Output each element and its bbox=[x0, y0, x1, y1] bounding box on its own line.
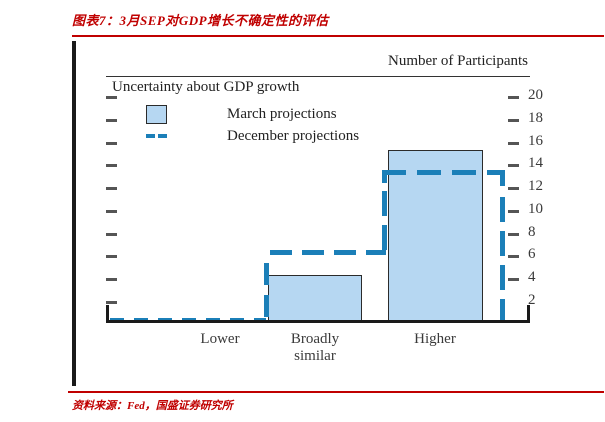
legend-label-march: March projections bbox=[227, 106, 337, 123]
title-divider bbox=[72, 35, 604, 37]
dec-step-higher bbox=[382, 170, 406, 175]
right-tick-20 bbox=[508, 96, 519, 99]
y-axis-left-stub bbox=[106, 305, 109, 323]
dec-step-higher bbox=[417, 170, 441, 175]
dec-step-broadly bbox=[366, 250, 386, 255]
ytick-label-14: 14 bbox=[528, 155, 543, 172]
figure-panel: Number of Participants Uncertainty about… bbox=[72, 41, 532, 386]
right-tick-4 bbox=[508, 278, 519, 281]
category-label-broadly-line2: similar bbox=[267, 348, 363, 365]
ytick-label-10: 10 bbox=[528, 201, 543, 218]
left-tick-6 bbox=[106, 255, 117, 258]
bar-march-higher bbox=[388, 150, 483, 321]
y-axis-right-stub bbox=[527, 305, 530, 323]
left-tick-12 bbox=[106, 187, 117, 190]
december-dash-icon bbox=[146, 127, 167, 146]
ytick-label-18: 18 bbox=[528, 110, 543, 127]
dec-closer-right bbox=[500, 265, 505, 290]
ytick-label-20: 20 bbox=[528, 87, 543, 104]
left-tick-18 bbox=[106, 119, 117, 122]
dec-step-broadly bbox=[302, 250, 324, 255]
category-label-broadly-line1: Broadly bbox=[267, 331, 363, 348]
chart-subtitle: Uncertainty about GDP growth bbox=[112, 79, 299, 96]
ytick-label-6: 6 bbox=[528, 246, 536, 263]
category-label-higher-line1: Higher bbox=[387, 331, 483, 348]
dec-riser-higher bbox=[382, 225, 387, 250]
ytick-label-8: 8 bbox=[528, 224, 536, 241]
dec-step-broadly bbox=[334, 250, 356, 255]
category-label-broadly-similar: Broadly similar bbox=[267, 331, 363, 365]
report-title: 图表7：3月SEP对GDP增长不确定性的评估 bbox=[72, 10, 329, 29]
dec-riser-higher bbox=[382, 191, 387, 216]
right-tick-16 bbox=[508, 142, 519, 145]
dec-riser-broadly bbox=[264, 295, 269, 317]
right-tick-10 bbox=[508, 210, 519, 213]
bar-march-broadly-similar bbox=[268, 275, 362, 321]
left-tick-2 bbox=[106, 301, 117, 304]
right-tick-12 bbox=[508, 187, 519, 190]
left-tick-16 bbox=[106, 142, 117, 145]
right-tick-8 bbox=[508, 233, 519, 236]
legend-label-december: December projections bbox=[227, 128, 359, 145]
category-label-lower-line1: Lower bbox=[172, 331, 268, 348]
category-label-lower: Lower bbox=[172, 331, 268, 348]
ytick-label-12: 12 bbox=[528, 178, 543, 195]
chart-axis-title: Number of Participants bbox=[338, 53, 578, 70]
dec-riser-broadly bbox=[264, 263, 269, 285]
dec-closer-right bbox=[500, 197, 505, 222]
left-tick-8 bbox=[106, 233, 117, 236]
dec-closer-right bbox=[500, 170, 505, 186]
ytick-label-16: 16 bbox=[528, 133, 543, 150]
left-tick-14 bbox=[106, 164, 117, 167]
category-label-higher: Higher bbox=[387, 331, 483, 348]
x-axis-line bbox=[106, 320, 530, 323]
legend-item-december: December projections bbox=[146, 125, 359, 147]
left-tick-4 bbox=[106, 278, 117, 281]
right-tick-6 bbox=[508, 255, 519, 258]
dec-step-broadly bbox=[270, 250, 292, 255]
right-tick-14 bbox=[508, 164, 519, 167]
source-note: 资料来源：Fed，国盛证券研究所 bbox=[72, 397, 233, 413]
dec-step-higher bbox=[452, 170, 476, 175]
chart-legend: March projections December projections bbox=[146, 103, 359, 147]
dec-closer-right bbox=[500, 299, 505, 320]
source-divider bbox=[68, 391, 604, 393]
right-tick-18 bbox=[508, 119, 519, 122]
left-tick-10 bbox=[106, 210, 117, 213]
dec-closer-right bbox=[500, 231, 505, 256]
header-divider bbox=[106, 76, 530, 77]
ytick-label-4: 4 bbox=[528, 269, 536, 286]
march-swatch-icon bbox=[146, 105, 167, 124]
legend-item-march: March projections bbox=[146, 103, 359, 125]
left-tick-20 bbox=[106, 96, 117, 99]
